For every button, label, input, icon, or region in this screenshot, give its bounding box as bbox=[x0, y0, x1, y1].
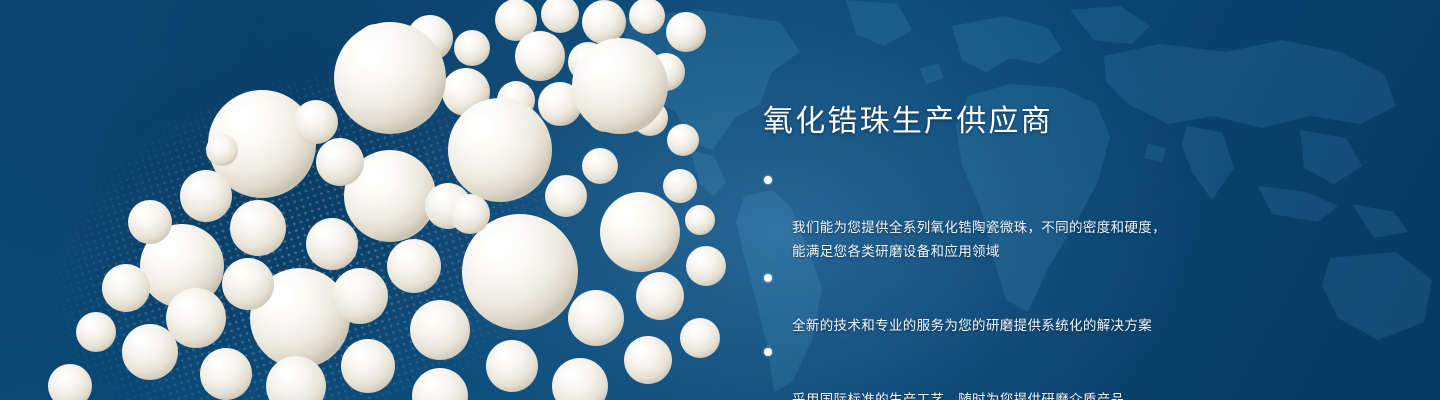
list-item-text: 采用国际标准的生产工艺，随时为您提供研磨介质产品 bbox=[792, 392, 1124, 400]
zirconia-beads-image bbox=[0, 0, 760, 400]
list-item: 我们能为您提供全系列氧化锆陶瓷微珠，不同的密度和硬度， 能满足您各类研磨设备和应… bbox=[763, 168, 1283, 264]
feature-list: 我们能为您提供全系列氧化锆陶瓷微珠，不同的密度和硬度， 能满足您各类研磨设备和应… bbox=[763, 168, 1283, 400]
list-item: 全新的技术和专业的服务为您的研磨提供系统化的解决方案 bbox=[763, 266, 1283, 338]
list-item: 采用国际标准的生产工艺，随时为您提供研磨介质产品 bbox=[763, 340, 1283, 400]
hero-banner: 氧化锆珠生产供应商 我们能为您提供全系列氧化锆陶瓷微珠，不同的密度和硬度， 能满… bbox=[0, 0, 1440, 400]
bullet-dot-icon bbox=[764, 176, 772, 184]
halftone-dot-texture bbox=[0, 0, 746, 400]
banner-copy: 氧化锆珠生产供应商 我们能为您提供全系列氧化锆陶瓷微珠，不同的密度和硬度， 能满… bbox=[763, 103, 1283, 400]
bullet-dot-icon bbox=[764, 348, 772, 356]
list-item-text: 全新的技术和专业的服务为您的研磨提供系统化的解决方案 bbox=[792, 318, 1152, 333]
page-title: 氧化锆珠生产供应商 bbox=[763, 103, 1283, 141]
bullet-dot-icon bbox=[764, 274, 772, 282]
list-item-text: 我们能为您提供全系列氧化锆陶瓷微珠，不同的密度和硬度， 能满足您各类研磨设备和应… bbox=[792, 220, 1166, 259]
